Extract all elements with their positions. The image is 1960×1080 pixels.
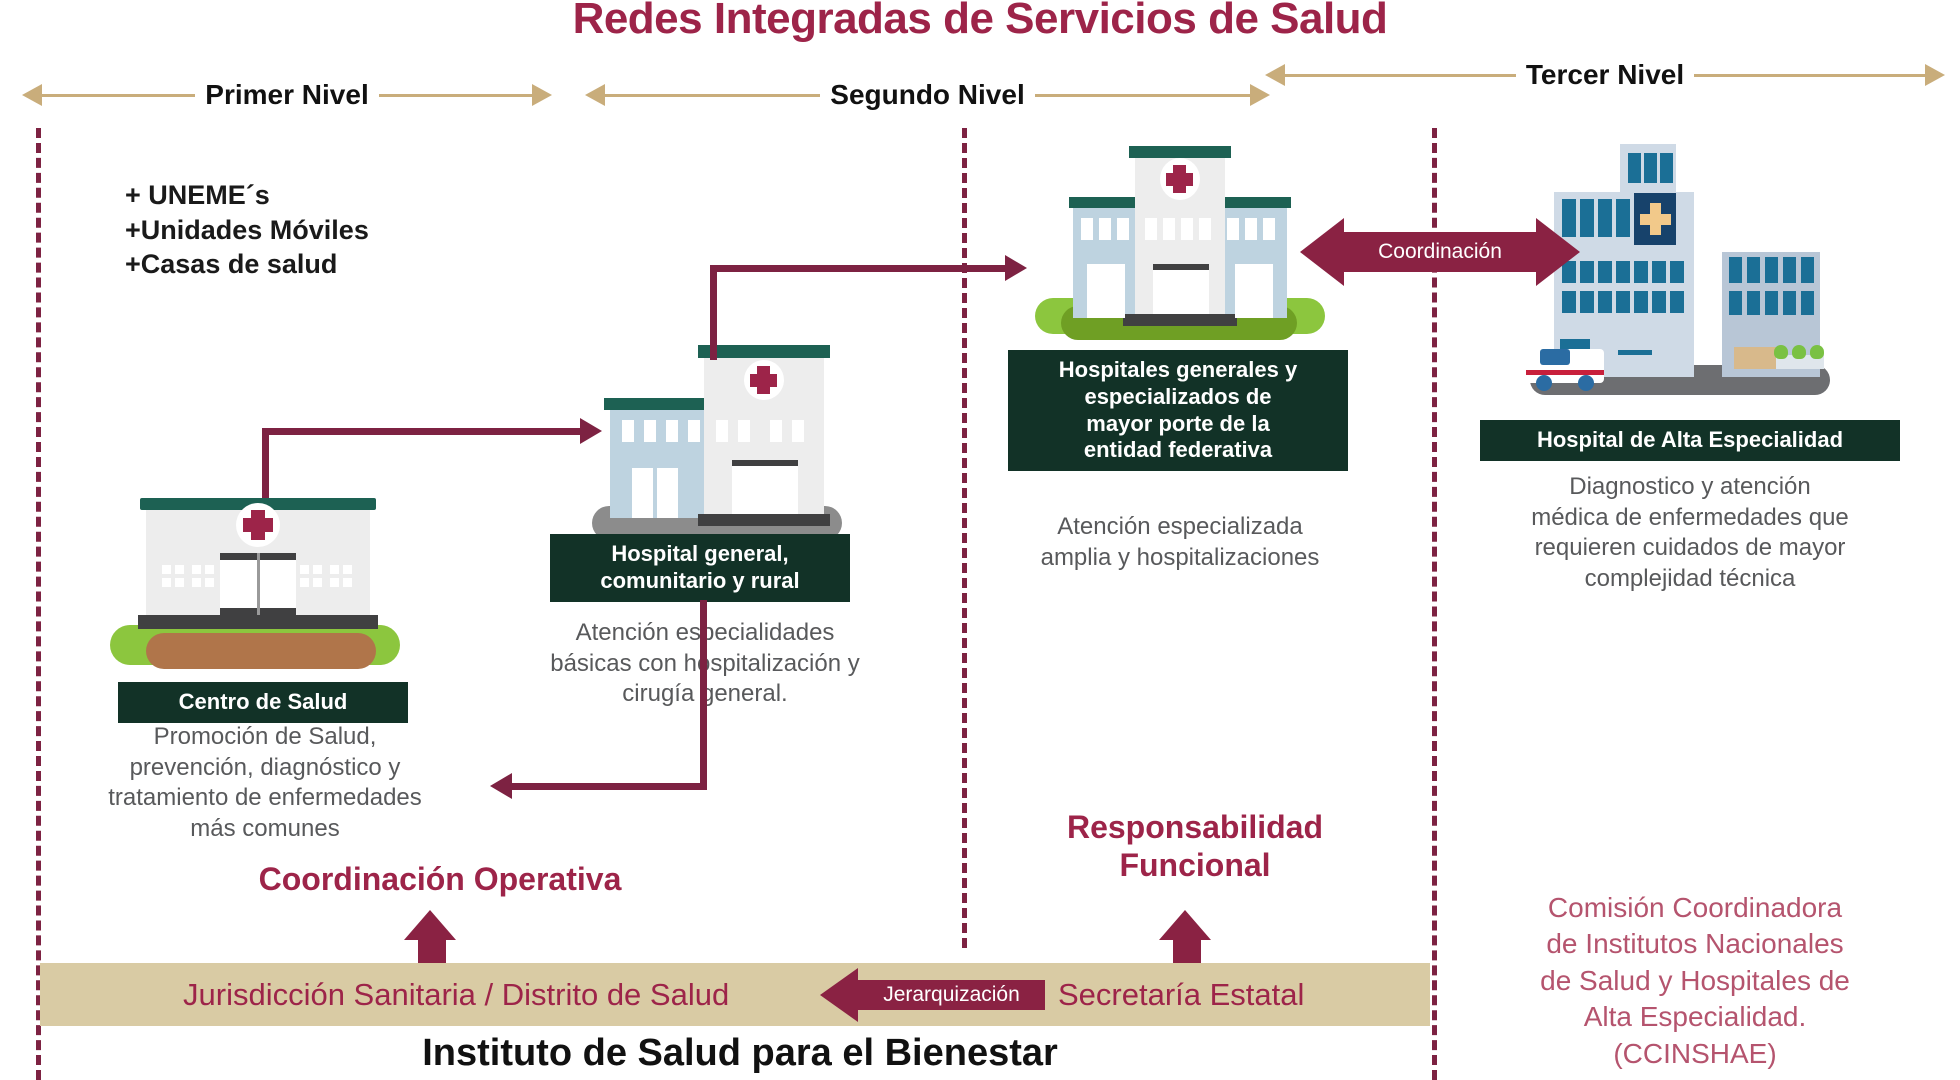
window-icon <box>1580 261 1594 283</box>
window-icon <box>1616 291 1630 313</box>
cross-icon <box>1640 214 1671 225</box>
window-icon <box>1652 291 1666 313</box>
window-icon <box>770 420 782 442</box>
hospitales-generales-illustration <box>1035 150 1325 340</box>
window-icon <box>1660 153 1673 183</box>
roof-shape <box>604 398 710 410</box>
window-icon <box>1634 291 1648 313</box>
connector-hgen-up-horizontal <box>710 265 1020 272</box>
window-icon <box>1801 291 1814 315</box>
centro-de-salud-description: Promoción de Salud, prevención, diagnóst… <box>60 722 470 845</box>
window-icon <box>1765 291 1778 315</box>
window-icon <box>1765 257 1778 283</box>
arrow-head-icon <box>1159 910 1211 940</box>
level-header-tercer-nivel: Tercer Nivel <box>1265 55 1945 95</box>
connector-clinic-in-horizontal <box>262 428 592 435</box>
door-mullion <box>653 468 657 518</box>
window-icon <box>1163 218 1175 240</box>
arrow-head-left-icon <box>1300 218 1344 286</box>
jurisdiccion-sanitaria-label: Jurisdicción Sanitaria / Distrito de Sal… <box>183 977 729 1013</box>
roof-shape <box>1129 146 1231 158</box>
entrance-door <box>732 460 798 514</box>
connector-hgen-up-vertical <box>710 265 717 360</box>
window-icon <box>1181 218 1193 240</box>
roof-shape <box>698 345 830 358</box>
level-label: Primer Nivel <box>195 79 378 111</box>
window-icon <box>644 420 656 442</box>
hospitales-generales-description: Atención especializada amplia y hospital… <box>980 512 1380 573</box>
secretaria-estatal-label: Secretaría Estatal <box>1058 977 1304 1013</box>
window-icon <box>1747 291 1760 315</box>
rule <box>42 94 195 97</box>
jerarquizacion-arrow: Jerarquización <box>820 968 1045 1022</box>
tower-base <box>698 514 830 526</box>
window-icon <box>1598 199 1612 237</box>
rule <box>1035 94 1250 97</box>
window-icon <box>1628 153 1641 183</box>
window-icon <box>1783 257 1796 283</box>
window-icon <box>330 565 352 587</box>
hospital-general-badge: Hospital general, comunitario y rural <box>550 534 850 602</box>
coordinacion-arrow: Coordinación <box>1300 218 1580 286</box>
window-icon <box>622 420 634 442</box>
window-icon <box>1245 218 1257 240</box>
connector-clinic-in-vertical <box>262 428 269 498</box>
red-cross-icon <box>750 374 777 387</box>
ambulance-wheel <box>1578 375 1594 391</box>
crate-shape <box>1734 347 1778 369</box>
arrow-head-left-icon <box>820 968 858 1022</box>
level-label: Segundo Nivel <box>820 79 1034 111</box>
window-icon <box>1598 291 1612 313</box>
window-icon <box>792 420 804 442</box>
window-icon <box>1145 218 1157 240</box>
window-icon <box>192 565 214 587</box>
page-title: Redes Integradas de Servicios de Salud <box>0 0 1960 44</box>
building-base <box>138 615 378 629</box>
level-header-segundo-nivel: Segundo Nivel <box>585 75 1270 115</box>
arrow-head-icon <box>490 773 512 799</box>
level-label: Tercer Nivel <box>1516 59 1694 91</box>
tree-icon <box>1774 345 1788 359</box>
window-icon <box>1598 261 1612 283</box>
roof-shape <box>1069 197 1143 208</box>
tower-base <box>1123 314 1237 326</box>
wing-door-right <box>1235 264 1273 318</box>
window-icon <box>300 565 322 587</box>
entrance-door <box>1153 264 1209 314</box>
centro-de-salud-badge: Centro de Salud <box>118 682 408 723</box>
red-cross-icon <box>1166 173 1193 186</box>
arrow-left-icon <box>22 84 42 106</box>
hospitales-generales-badge: Hospitales generales y especializados de… <box>1008 350 1348 471</box>
window-icon <box>1747 257 1760 283</box>
coordinacion-label: Coordinación <box>1378 240 1502 264</box>
soil-shape <box>146 633 376 669</box>
window-icon <box>688 420 700 442</box>
window-icon <box>1227 218 1239 240</box>
window-icon <box>716 420 728 442</box>
rule <box>1694 74 1925 77</box>
arrow-head-icon <box>404 910 456 940</box>
window-icon <box>666 420 678 442</box>
first-level-services-list: + UNEME´s +Unidades Móviles +Casas de sa… <box>125 178 369 282</box>
hospital-general-illustration <box>592 340 842 540</box>
window-icon <box>1729 291 1742 315</box>
window-icon <box>1099 218 1111 240</box>
window-icon <box>1081 218 1093 240</box>
door-mullion <box>257 553 260 615</box>
responsabilidad-funcional-heading: Responsabilidad Funcional <box>1020 808 1370 885</box>
window-icon <box>1801 257 1814 283</box>
window-icon <box>1616 261 1630 283</box>
arrow-right-icon <box>532 84 552 106</box>
window-icon <box>1117 218 1129 240</box>
ambulance-stripe <box>1526 370 1604 375</box>
ambulance-wheel <box>1536 375 1552 391</box>
arrow-head-icon <box>1005 255 1027 281</box>
centro-de-salud-illustration <box>110 485 400 665</box>
arrow-right-icon <box>1925 64 1945 86</box>
responsabilidad-up-arrow <box>1155 910 1215 965</box>
rule <box>1285 74 1516 77</box>
window-icon <box>1580 199 1594 237</box>
coordinacion-up-arrow <box>400 910 460 965</box>
window-icon <box>1729 257 1742 283</box>
tree-icon <box>1792 345 1806 359</box>
ccinshae-text: Comisión Coordinadora de Institutos Naci… <box>1480 890 1910 1072</box>
diagram-canvas: Redes Integradas de Servicios de Salud P… <box>0 0 1960 1080</box>
connector-return-vertical <box>700 600 707 790</box>
window-icon <box>1562 291 1576 313</box>
coordinacion-operativa-heading: Coordinación Operativa <box>195 860 685 898</box>
window-icon <box>1670 261 1684 283</box>
entrance-marker <box>1618 350 1652 355</box>
window-icon <box>1580 291 1594 313</box>
window-icon <box>1616 199 1630 237</box>
instituto-label: Instituto de Salud para el Bienestar <box>330 1032 1150 1075</box>
window-icon <box>1263 218 1275 240</box>
column-divider-left <box>36 128 41 1080</box>
window-icon <box>1634 261 1648 283</box>
window-icon <box>738 420 750 442</box>
window-icon <box>1783 291 1796 315</box>
column-divider-mid <box>962 128 967 948</box>
window-icon <box>1199 218 1211 240</box>
wing-door-left <box>1087 264 1125 318</box>
roof-shape <box>1217 197 1291 208</box>
tree-icon <box>1810 345 1824 359</box>
ambulance-cabin <box>1540 349 1570 365</box>
window-icon <box>1652 261 1666 283</box>
arrow-left-icon <box>585 84 605 106</box>
arrow-left-icon <box>1265 64 1285 86</box>
arrow-head-right-icon <box>1536 218 1580 286</box>
hospital-alta-especialidad-description: Diagnostico y atención médica de enferme… <box>1470 472 1910 595</box>
level-header-primer-nivel: Primer Nivel <box>22 75 552 115</box>
connector-return-horizontal <box>512 783 707 790</box>
rule <box>379 94 532 97</box>
jerarquizacion-label: Jerarquización <box>858 980 1045 1010</box>
arrow-head-icon <box>580 418 602 444</box>
window-icon <box>1644 153 1657 183</box>
rule <box>605 94 820 97</box>
window-icon <box>1670 291 1684 313</box>
window-icon <box>162 565 184 587</box>
red-cross-icon <box>243 518 273 532</box>
hospital-alta-especialidad-badge: Hospital de Alta Especialidad <box>1480 420 1900 461</box>
